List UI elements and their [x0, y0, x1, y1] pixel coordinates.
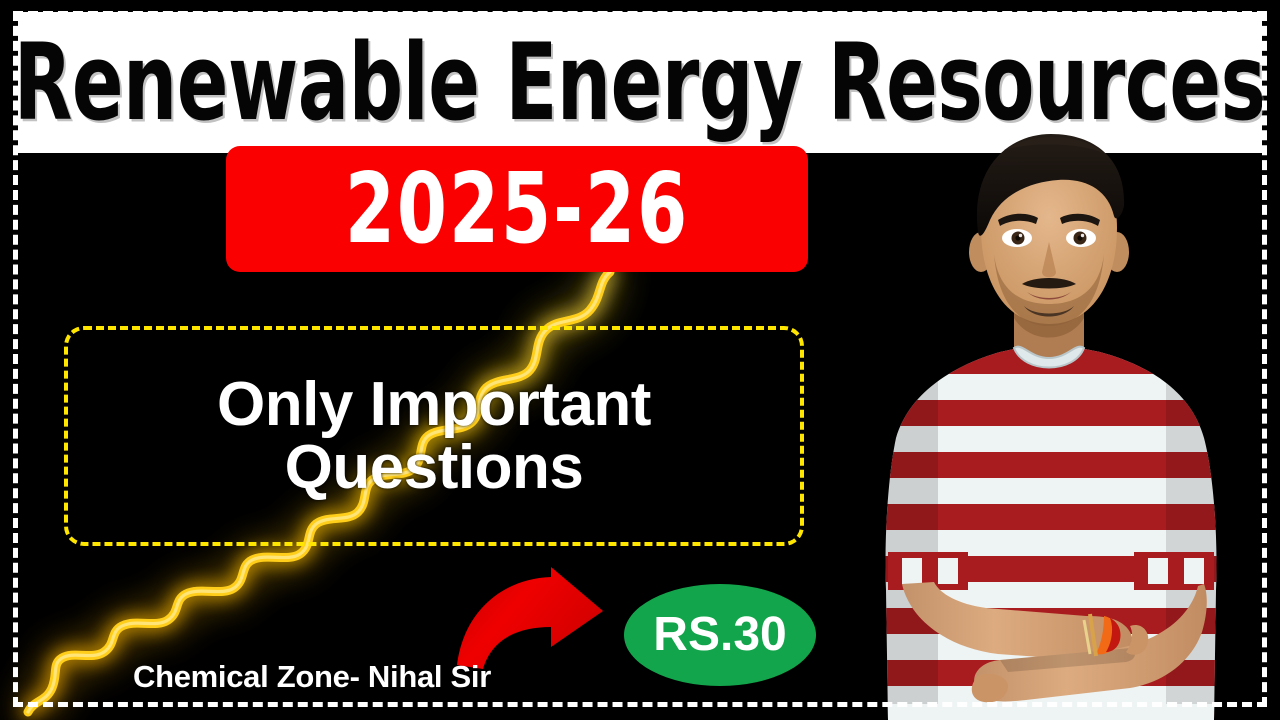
presenter-photo — [818, 120, 1280, 720]
thumbnail-canvas: Renewable Energy Resources 2025-26 Only … — [0, 0, 1280, 720]
price-badge-label: RS.30 — [653, 611, 786, 659]
price-badge: RS.30 — [624, 584, 816, 686]
highlight-line-1: Only Important — [217, 373, 651, 436]
year-badge: 2025-26 — [226, 146, 808, 272]
highlight-line-2: Questions — [285, 436, 584, 499]
year-badge-label: 2025-26 — [345, 160, 689, 258]
highlight-box: Only Important Questions — [64, 326, 804, 546]
channel-credit: Chemical Zone- Nihal Sir — [133, 661, 491, 692]
